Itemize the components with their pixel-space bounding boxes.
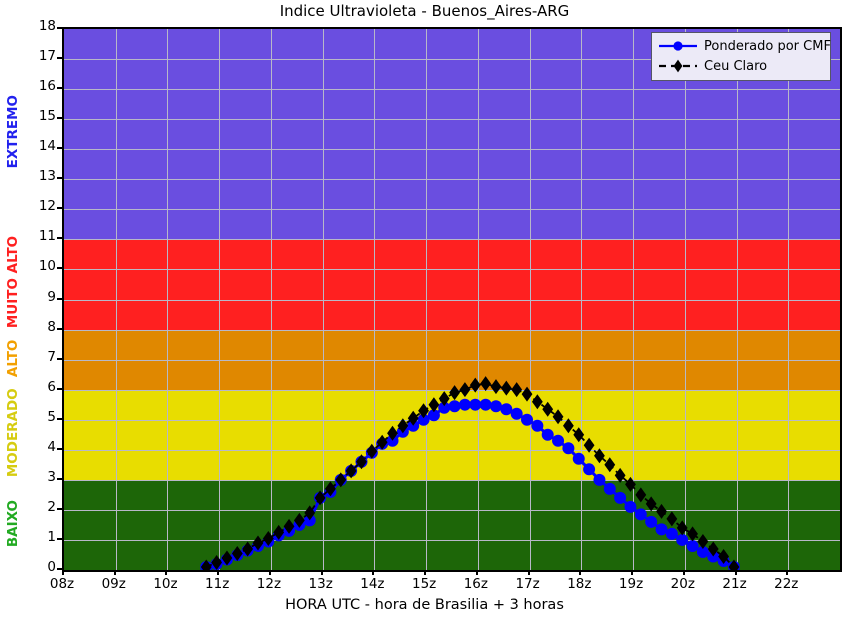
series-layer xyxy=(64,29,840,570)
data-point-marker xyxy=(604,483,616,495)
y-tick-mark xyxy=(57,508,62,510)
data-point-marker xyxy=(553,409,564,424)
y-tick-mark xyxy=(57,57,62,59)
x-tick-mark xyxy=(114,570,116,575)
x-tick-mark xyxy=(735,570,737,575)
data-point-marker xyxy=(521,414,533,426)
y-tick-mark xyxy=(57,388,62,390)
legend-label-ponderado: Ponderado por CMF xyxy=(699,39,831,54)
category-label-extremo: EXTREMO xyxy=(3,27,23,237)
category-label-muito-alto: MUITO ALTO xyxy=(3,237,23,327)
data-point-marker xyxy=(501,381,512,396)
data-point-marker xyxy=(729,559,740,570)
x-tick-mark xyxy=(476,570,478,575)
legend-swatch-line-circle xyxy=(657,37,699,55)
y-tick-mark xyxy=(57,538,62,540)
data-point-marker xyxy=(480,376,491,391)
legend-item-ceu-claro[interactable]: Ceu Claro xyxy=(657,56,825,76)
data-point-marker xyxy=(656,504,667,519)
data-point-marker xyxy=(584,438,595,453)
data-point-marker xyxy=(677,520,688,535)
data-point-marker xyxy=(656,523,668,535)
data-point-marker xyxy=(687,540,699,552)
data-point-marker xyxy=(624,501,636,513)
x-tick-mark xyxy=(217,570,219,575)
data-point-marker xyxy=(491,379,502,394)
y-tick-mark xyxy=(57,418,62,420)
data-point-marker xyxy=(573,453,585,465)
data-point-marker xyxy=(480,399,492,411)
data-point-marker xyxy=(614,492,626,504)
data-point-marker xyxy=(490,400,502,412)
data-point-marker xyxy=(594,448,605,463)
data-point-marker xyxy=(573,427,584,442)
y-tick-mark xyxy=(57,87,62,89)
chart-title: Indice Ultravioleta - Buenos_Aires-ARG xyxy=(0,2,849,20)
y-tick-mark xyxy=(57,147,62,149)
data-point-marker xyxy=(522,387,533,402)
x-tick-mark xyxy=(372,570,374,575)
data-point-marker xyxy=(687,526,698,541)
data-point-marker xyxy=(676,534,688,546)
x-tick-mark xyxy=(269,570,271,575)
x-tick-mark xyxy=(165,570,167,575)
y-tick-mark xyxy=(57,358,62,360)
data-point-marker xyxy=(552,435,564,447)
data-point-marker xyxy=(635,487,646,502)
y-tick-mark xyxy=(57,328,62,330)
y-tick-mark xyxy=(57,478,62,480)
data-point-marker xyxy=(593,474,605,486)
data-point-marker xyxy=(511,382,522,397)
data-point-marker xyxy=(469,399,481,411)
data-point-marker xyxy=(449,400,461,412)
data-point-marker xyxy=(563,418,574,433)
x-tick-mark xyxy=(631,570,633,575)
category-label-moderado: MODERADO xyxy=(3,388,23,478)
data-point-marker xyxy=(698,534,709,549)
x-tick-mark xyxy=(321,570,323,575)
x-tick-mark xyxy=(424,570,426,575)
data-point-marker xyxy=(428,397,439,412)
y-tick-mark xyxy=(57,177,62,179)
data-point-marker xyxy=(635,508,647,520)
plot-area xyxy=(62,27,842,572)
data-point-marker xyxy=(500,403,512,415)
data-point-marker xyxy=(532,394,543,409)
data-point-marker xyxy=(645,516,657,528)
data-point-marker xyxy=(201,559,212,570)
data-point-marker xyxy=(615,468,626,483)
series-ponderado-por-cmf xyxy=(200,399,740,570)
y-tick-mark xyxy=(57,27,62,29)
data-point-marker xyxy=(646,496,657,511)
data-point-marker xyxy=(666,511,677,526)
data-point-marker xyxy=(470,378,481,393)
category-label-alto: ALTO xyxy=(3,328,23,388)
x-tick-mark xyxy=(786,570,788,575)
legend-item-ponderado[interactable]: Ponderado por CMF xyxy=(657,36,825,56)
legend-label-ceu-claro: Ceu Claro xyxy=(699,59,767,74)
x-axis-label: HORA UTC - hora de Brasilia + 3 horas xyxy=(0,597,849,613)
uv-index-chart-figure: Indice Ultravioleta - Buenos_Aires-ARG 0… xyxy=(0,0,849,623)
legend: Ponderado por CMF Ceu Claro xyxy=(651,32,831,81)
data-point-marker xyxy=(542,429,554,441)
y-tick-mark xyxy=(57,298,62,300)
y-tick-mark xyxy=(57,267,62,269)
data-point-marker xyxy=(562,442,574,454)
data-point-marker xyxy=(511,408,523,420)
x-tick-mark xyxy=(579,570,581,575)
y-tick-mark xyxy=(57,117,62,119)
data-point-marker xyxy=(604,457,615,472)
series-line xyxy=(206,405,734,567)
data-point-marker xyxy=(449,385,460,400)
y-tick-mark xyxy=(57,237,62,239)
x-tick-mark xyxy=(683,570,685,575)
data-point-marker xyxy=(625,477,636,492)
data-point-marker xyxy=(542,402,553,417)
category-label-baixo: BAIXO xyxy=(3,478,23,568)
y-tick-mark xyxy=(57,207,62,209)
data-point-marker xyxy=(666,528,678,540)
legend-swatch-dashed-diamond xyxy=(657,57,699,75)
data-point-marker xyxy=(459,399,471,411)
data-point-marker xyxy=(460,382,471,397)
x-tick-mark xyxy=(62,570,64,575)
data-point-marker xyxy=(531,420,543,432)
x-tick-mark xyxy=(528,570,530,575)
x-tick-label: 22z xyxy=(756,576,816,592)
series-line xyxy=(206,384,734,567)
y-tick-mark xyxy=(57,448,62,450)
data-point-marker xyxy=(583,463,595,475)
